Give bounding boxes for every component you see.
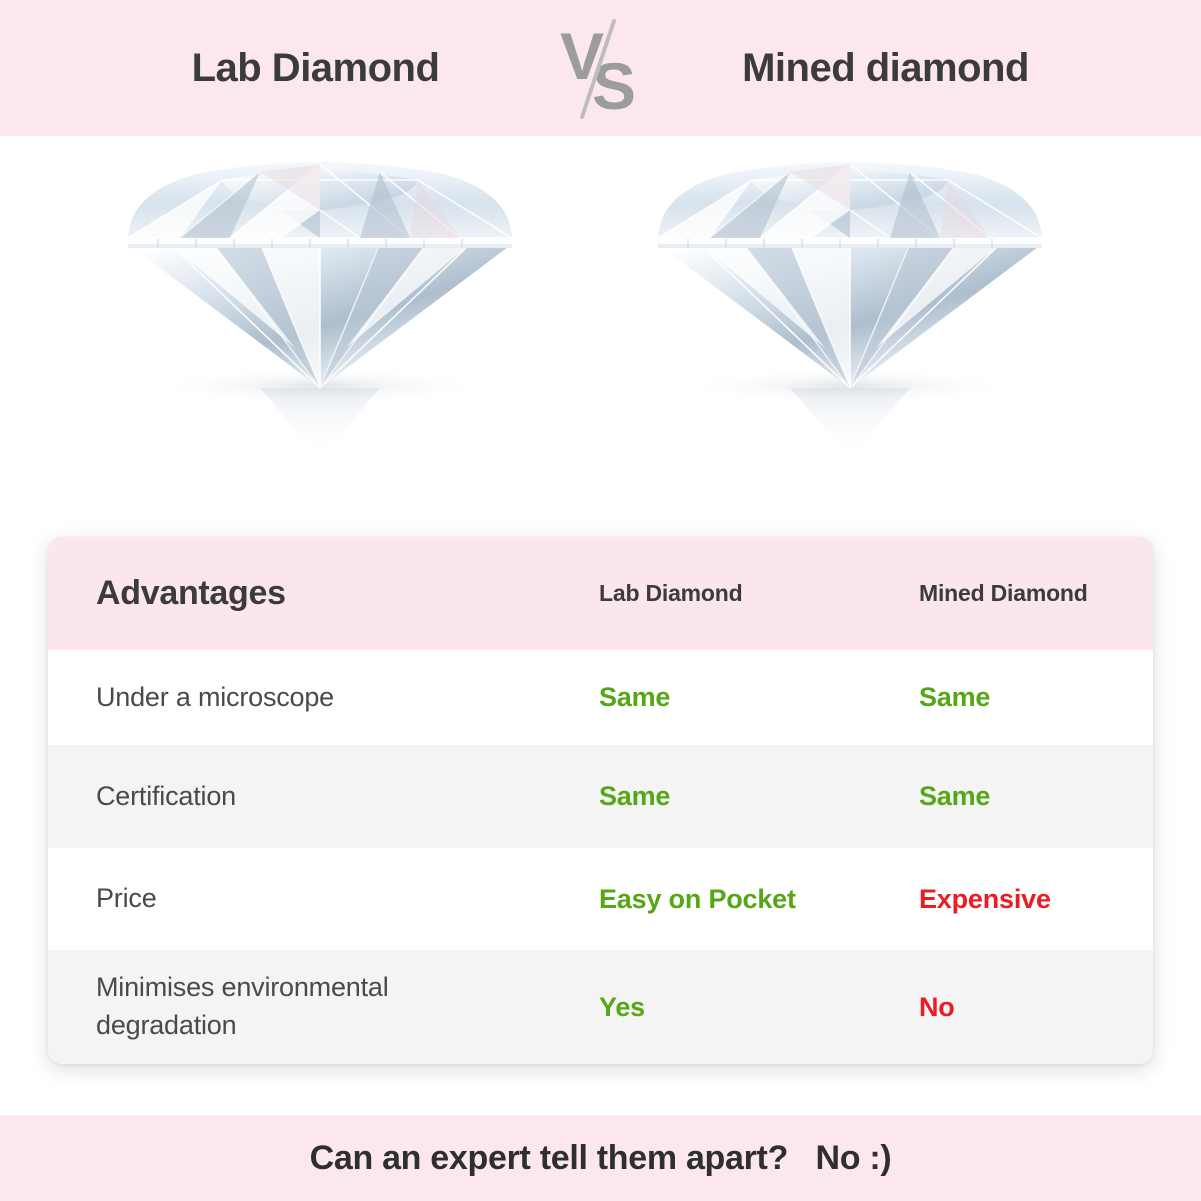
footer-question: Can an expert tell them apart? No :) (310, 1139, 892, 1178)
header-banner: Lab Diamond V S Mined diamond (0, 0, 1201, 136)
header-label-mined-diamond: Mined Diamond (919, 580, 1088, 606)
page-title-mined-diamond: Mined diamond (656, 46, 1116, 91)
comparison-table: Advantages Lab Diamond Mined Diamond Und… (48, 537, 1153, 1064)
header-label-advantages: Advantages (96, 574, 286, 612)
value-lab: Yes (599, 992, 645, 1022)
table-header-row: Advantages Lab Diamond Mined Diamond (48, 537, 1153, 650)
cell-lab-value: Yes (541, 992, 871, 1023)
header-label-lab-diamond: Lab Diamond (599, 580, 742, 606)
table-row: Minimises environmental degradation Yes … (48, 950, 1153, 1064)
value-lab: Same (599, 781, 670, 811)
table-header-cell-mined: Mined Diamond (871, 580, 1153, 607)
table-row: Price Easy on Pocket Expensive (48, 848, 1153, 950)
cell-feature: Minimises environmental degradation (48, 969, 541, 1045)
cell-mined-value: Same (871, 682, 1153, 713)
feature-label: Under a microscope (96, 682, 334, 712)
page-title-lab-diamond: Lab Diamond (86, 46, 546, 91)
table-row: Under a microscope Same Same (48, 650, 1153, 745)
value-mined: Same (919, 682, 990, 712)
table-header-cell-lab: Lab Diamond (541, 580, 871, 607)
footer-banner: Can an expert tell them apart? No :) (0, 1115, 1201, 1201)
feature-label: Certification (96, 781, 236, 811)
table-row: Certification Same Same (48, 745, 1153, 848)
cell-mined-value: Expensive (871, 884, 1153, 915)
value-mined: No (919, 992, 955, 1022)
value-mined: Same (919, 781, 990, 811)
cell-lab-value: Same (541, 682, 871, 713)
value-lab: Same (599, 682, 670, 712)
cell-feature: Price (48, 880, 541, 918)
mined-diamond-image (640, 148, 1060, 478)
cell-lab-value: Same (541, 781, 871, 812)
value-mined: Expensive (919, 884, 1051, 914)
svg-text:S: S (592, 49, 636, 123)
cell-mined-value: Same (871, 781, 1153, 812)
feature-label: Minimises environmental degradation (96, 972, 389, 1040)
cell-mined-value: No (871, 992, 1153, 1023)
comparison-table-card: Advantages Lab Diamond Mined Diamond Und… (48, 537, 1153, 1064)
cell-feature: Certification (48, 778, 541, 816)
cell-lab-value: Easy on Pocket (541, 884, 871, 915)
value-lab: Easy on Pocket (599, 884, 796, 914)
infographic-root: Lab Diamond V S Mined diamond (0, 0, 1201, 1201)
vs-icon: V S (546, 13, 656, 123)
cell-feature: Under a microscope (48, 679, 541, 717)
lab-diamond-image (110, 148, 530, 478)
table-header-cell-advantages: Advantages (48, 574, 541, 613)
diamond-image-area (0, 136, 1201, 526)
feature-label: Price (96, 883, 157, 913)
